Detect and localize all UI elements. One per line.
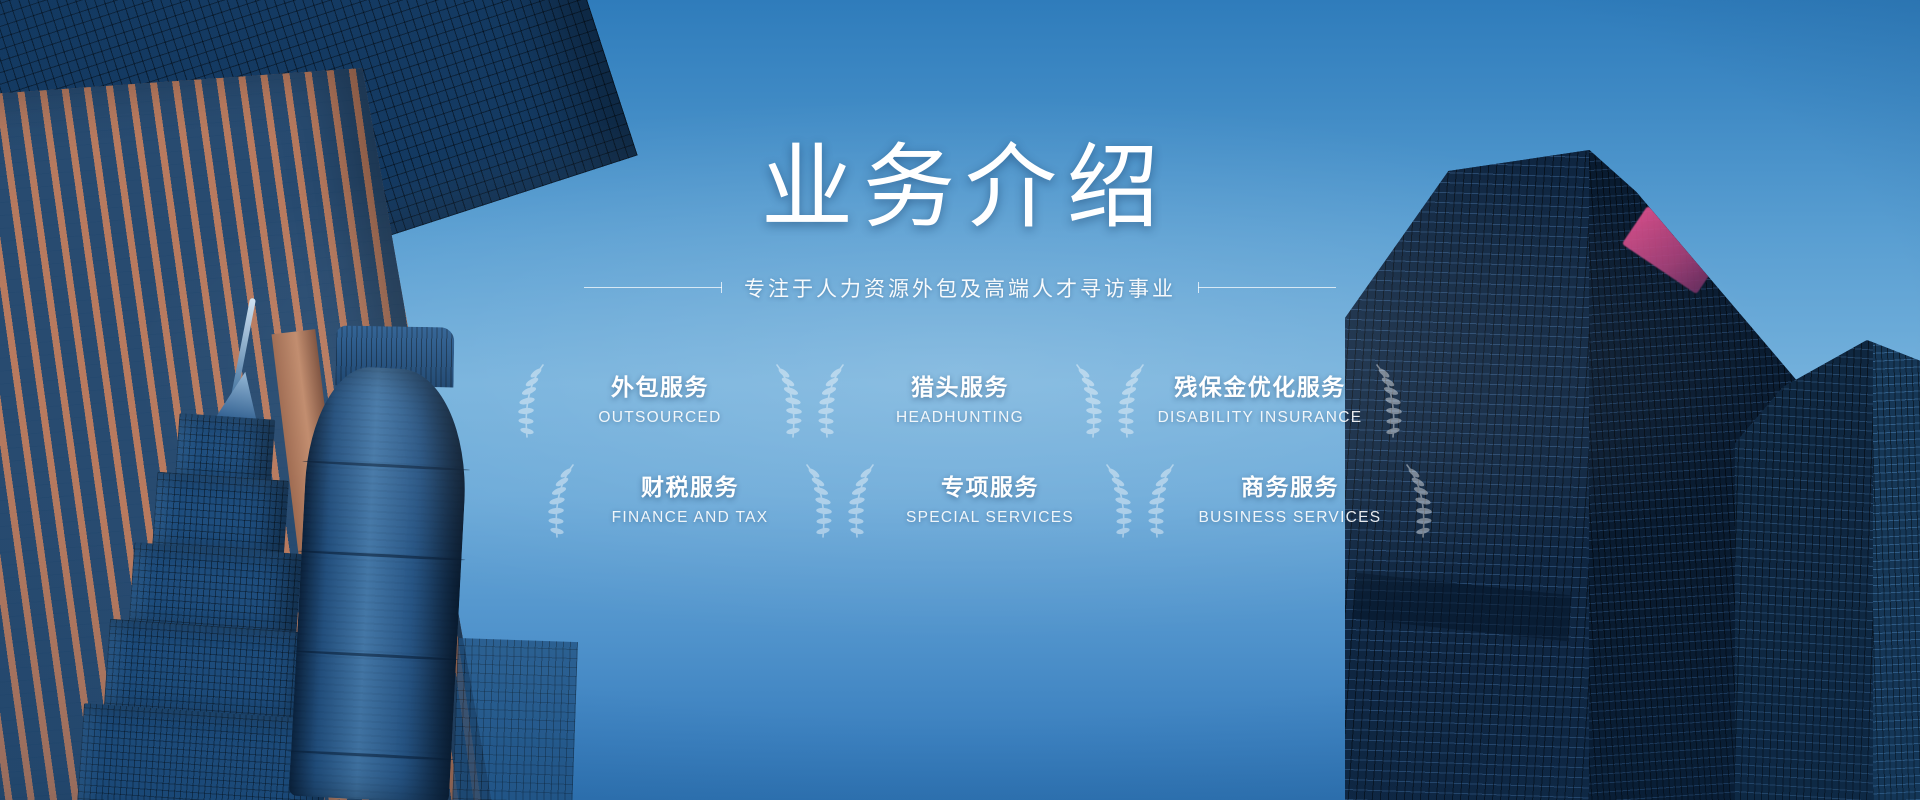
page-subtitle: 专注于人力资源外包及高端人才寻访事业	[744, 273, 1176, 303]
laurel-wreath-icon	[1402, 462, 1436, 540]
service-name-en: HEADHUNTING	[896, 409, 1024, 427]
laurel-wreath-icon	[1102, 462, 1136, 540]
laurel-wreath-icon	[1144, 462, 1178, 540]
service-name-en: SPECIAL SERVICES	[906, 509, 1074, 527]
service-item-headhunting[interactable]: 猎头服务 HEADHUNTING	[810, 351, 1110, 451]
laurel-wreath-icon	[544, 462, 578, 540]
service-name-cn: 猎头服务	[911, 374, 1009, 402]
service-name-cn: 外包服务	[611, 374, 709, 402]
service-name-cn: 商务服务	[1241, 474, 1339, 502]
subtitle-rule-right-icon	[1198, 287, 1336, 288]
laurel-wreath-icon	[802, 462, 836, 540]
service-name-cn: 专项服务	[941, 474, 1039, 502]
service-item-business-services[interactable]: 商务服务 BUSINESS SERVICES	[1140, 451, 1440, 551]
laurel-wreath-icon	[772, 362, 806, 440]
laurel-wreath-icon	[1372, 362, 1406, 440]
service-name-en: OUTSOURCED	[598, 409, 721, 427]
banner-content: 业务介绍 专注于人力资源外包及高端人才寻访事业	[0, 0, 1920, 800]
laurel-wreath-icon	[1072, 362, 1106, 440]
service-name-cn: 财税服务	[641, 474, 739, 502]
service-item-outsourced[interactable]: 外包服务 OUTSOURCED	[510, 351, 810, 451]
service-list: 外包服务 OUTSOURCED	[510, 351, 1410, 551]
business-intro-banner: 业务介绍 专注于人力资源外包及高端人才寻访事业	[0, 0, 1920, 800]
service-name-en: BUSINESS SERVICES	[1199, 509, 1382, 527]
laurel-wreath-icon	[1114, 362, 1148, 440]
page-title: 业务介绍	[751, 140, 1169, 237]
service-name-en: FINANCE AND TAX	[612, 509, 769, 527]
service-name-en: DISABILITY INSURANCE	[1158, 409, 1363, 427]
service-item-finance-and-tax[interactable]: 财税服务 FINANCE AND TAX	[540, 451, 840, 551]
service-item-disability-insurance[interactable]: 残保金优化服务 DISABILITY INSURANCE	[1110, 351, 1410, 451]
subtitle-rule-left-icon	[584, 287, 722, 288]
service-item-special-services[interactable]: 专项服务 SPECIAL SERVICES	[840, 451, 1140, 551]
laurel-wreath-icon	[814, 362, 848, 440]
service-name-cn: 残保金优化服务	[1174, 374, 1346, 402]
laurel-wreath-icon	[844, 462, 878, 540]
laurel-wreath-icon	[514, 362, 548, 440]
subtitle-row: 专注于人力资源外包及高端人才寻访事业	[584, 273, 1336, 303]
